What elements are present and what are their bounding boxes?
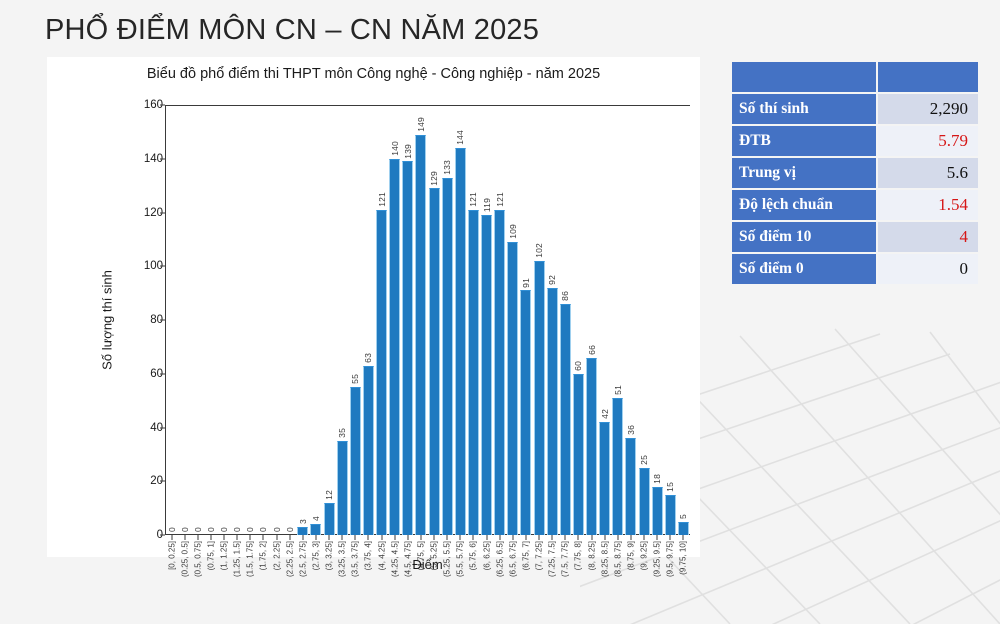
bar[interactable] [389, 159, 400, 535]
x-axis-tick-mark [302, 535, 303, 540]
bar-value-label: 0 [245, 527, 255, 532]
bar-slot[interactable]: 42(8.25, 8.5] [598, 105, 611, 535]
stat-label-cell: ĐTB [732, 126, 876, 156]
bar-slot[interactable]: 51(8.5, 8.75] [611, 105, 624, 535]
stat-label-cell: Số điểm 0 [732, 254, 876, 284]
x-axis-tick-mark [657, 535, 658, 540]
x-axis-tick-mark [197, 535, 198, 540]
table-row: Số điểm 104 [732, 222, 978, 252]
bar-slot[interactable]: 119(6, 6.25] [480, 105, 493, 535]
bar[interactable] [481, 215, 492, 535]
x-axis-tick-mark [368, 535, 369, 540]
bar-slot[interactable]: 0(0.5, 0.75] [191, 105, 204, 535]
y-axis-tick-label: 40 [103, 422, 163, 434]
bar-value-label: 35 [337, 428, 347, 438]
page-title: PHỔ ĐIỂM MÔN CN – CN NĂM 2025 [45, 14, 539, 47]
bar[interactable] [534, 261, 545, 535]
bar-value-label: 0 [272, 527, 282, 532]
bar[interactable] [612, 398, 623, 535]
stat-value-cell: 5.79 [878, 126, 978, 156]
bar[interactable] [337, 441, 348, 535]
stat-value-cell: 1.54 [878, 190, 978, 220]
x-axis-tick-mark [499, 535, 500, 540]
bar-value-label: 129 [429, 171, 439, 186]
bar-value-label: 0 [206, 527, 216, 532]
y-axis-tick-label: 160 [103, 99, 163, 111]
bar-value-label: 121 [468, 192, 478, 207]
bar[interactable] [652, 487, 663, 535]
bar-slot[interactable]: 3(2.5, 2.75] [296, 105, 309, 535]
x-axis-tick-mark [539, 535, 540, 540]
bar-value-label: 86 [560, 291, 570, 301]
bar[interactable] [494, 210, 505, 535]
bar-slot[interactable]: 0[0, 0.25] [165, 105, 178, 535]
x-axis-tick-mark [486, 535, 487, 540]
x-axis-tick-mark [237, 535, 238, 540]
x-axis-tick-mark [250, 535, 251, 540]
x-axis-tick-mark [381, 535, 382, 540]
x-axis-tick-mark [407, 535, 408, 540]
bar-slot[interactable]: 0(2.25, 2.5] [283, 105, 296, 535]
x-axis-tick-mark [591, 535, 592, 540]
x-axis-tick-mark [342, 535, 343, 540]
bar-value-label: 12 [324, 490, 334, 500]
bar[interactable] [507, 242, 518, 535]
bar[interactable] [324, 503, 335, 535]
bar[interactable] [678, 522, 689, 535]
x-axis-tick-mark [512, 535, 513, 540]
plot-area: 020406080100120140160 Số lượng thí sinh … [165, 105, 690, 535]
bar-slot[interactable]: 121(5.75, 6] [467, 105, 480, 535]
bar-slot[interactable]: 35(3.25, 3.5] [336, 105, 349, 535]
bar[interactable] [468, 210, 479, 535]
table-row: Số điểm 00 [732, 254, 978, 284]
x-axis-tick-mark [644, 535, 645, 540]
bar-slot[interactable]: 109(6.5, 6.75] [506, 105, 519, 535]
chart-title: Biểu đồ phổ điểm thi THPT môn Công nghệ … [47, 66, 700, 82]
bar-slot[interactable]: 139(4.5, 4.75] [401, 105, 414, 535]
x-axis-tick-mark [447, 535, 448, 540]
x-axis-tick-mark [171, 535, 172, 540]
x-axis-tick-mark [289, 535, 290, 540]
bar[interactable] [297, 527, 308, 535]
bar[interactable] [547, 288, 558, 535]
bar-slot[interactable]: 121(4, 4.25] [375, 105, 388, 535]
bar[interactable] [599, 422, 610, 535]
bar-slot[interactable]: 12(3, 3.25] [323, 105, 336, 535]
stat-value-cell: 2,290 [878, 94, 978, 124]
bar-slot[interactable]: 0(2, 2.25] [270, 105, 283, 535]
bar-value-label: 91 [521, 278, 531, 288]
bar-value-label: 0 [167, 527, 177, 532]
x-axis-label: Điểm [165, 557, 690, 572]
table-row: ĐTB5.79 [732, 126, 978, 156]
bar[interactable] [442, 178, 453, 535]
bar-slot[interactable]: 36(8.75, 9] [624, 105, 637, 535]
x-axis-tick-mark [604, 535, 605, 540]
bar[interactable] [639, 468, 650, 535]
x-axis-tick-mark [184, 535, 185, 540]
stat-label-cell: Trung vị [732, 158, 876, 188]
bar-value-label: 133 [442, 160, 452, 175]
bar-value-label: 60 [573, 361, 583, 371]
stat-value-cell: 4 [878, 222, 978, 252]
bar[interactable] [310, 524, 321, 535]
bar-value-label: 55 [350, 374, 360, 384]
bar-value-label: 0 [193, 527, 203, 532]
x-axis-tick-mark [460, 535, 461, 540]
bar[interactable] [350, 387, 361, 535]
x-axis-tick-mark [630, 535, 631, 540]
x-axis-tick-mark [683, 535, 684, 540]
x-axis-tick-mark [617, 535, 618, 540]
bar-slot[interactable]: 0(1.5, 1.75] [244, 105, 257, 535]
bar-slot[interactable]: 60(7.75, 8] [572, 105, 585, 535]
stat-value-cell: 5.6 [878, 158, 978, 188]
table-header-row [732, 62, 978, 92]
bar-slot[interactable]: 18(9.25, 9.5] [651, 105, 664, 535]
bar-value-label: 0 [219, 527, 229, 532]
x-axis-tick-mark [552, 535, 553, 540]
bar-slot[interactable]: 133(5.25, 5.5] [441, 105, 454, 535]
bar-slot[interactable]: 0(1.75, 2] [257, 105, 270, 535]
bar-value-label: 139 [403, 144, 413, 159]
bar[interactable] [520, 290, 531, 535]
bar[interactable] [363, 366, 374, 535]
bar-slot[interactable]: 129(5, 5.25] [428, 105, 441, 535]
bar-value-label: 119 [482, 198, 492, 212]
bar-value-label: 140 [390, 141, 400, 156]
bar-value-label: 18 [652, 474, 662, 484]
bar[interactable] [586, 358, 597, 535]
bar-value-label: 4 [311, 516, 321, 521]
bar-slot[interactable]: 15(9.5, 9.75] [664, 105, 677, 535]
bar-value-label: 15 [665, 482, 675, 492]
bar[interactable] [455, 148, 466, 535]
x-axis-tick-mark [565, 535, 566, 540]
bar-value-label: 63 [363, 353, 373, 363]
bar-slot[interactable]: 140(4.25, 4.5] [388, 105, 401, 535]
bar-value-label: 36 [626, 425, 636, 435]
bar-slot[interactable]: 25(9, 9.25] [638, 105, 651, 535]
x-axis-tick-mark [473, 535, 474, 540]
bar[interactable] [665, 495, 676, 535]
bar-value-label: 102 [534, 243, 544, 258]
x-axis-tick-mark [434, 535, 435, 540]
bar-value-label: 144 [455, 130, 465, 145]
bar[interactable] [376, 210, 387, 535]
x-axis-tick-mark [670, 535, 671, 540]
y-axis-tick-label: 140 [103, 153, 163, 165]
bar-value-label: 109 [508, 224, 518, 239]
bar-value-label: 121 [495, 192, 505, 207]
bar[interactable] [625, 438, 636, 535]
bar-slot[interactable]: 92(7.25, 7.5] [546, 105, 559, 535]
bar-slot[interactable]: 55(3.5, 3.75] [349, 105, 362, 535]
x-axis-tick-mark [329, 535, 330, 540]
bar-value-label: 0 [285, 527, 295, 532]
bar-value-label: 42 [600, 409, 610, 419]
bar-slot[interactable]: 63(3.75, 4] [362, 105, 375, 535]
stat-label-cell: Số thí sinh [732, 94, 876, 124]
x-axis-tick-mark [394, 535, 395, 540]
y-axis-label: Số lượng thí sinh [99, 270, 114, 370]
bar-slot[interactable]: 0(0.25, 0.5] [178, 105, 191, 535]
table-header-cell [878, 62, 978, 92]
bar-slot[interactable]: 86(7.5, 7.75] [559, 105, 572, 535]
bar-slot[interactable]: 91(6.75, 7] [519, 105, 532, 535]
bar-slot[interactable]: 0(1.25, 1.5] [231, 105, 244, 535]
bar-value-label: 3 [298, 519, 308, 524]
bar-slot[interactable]: 5(9.75, 10] [677, 105, 690, 535]
x-axis-tick-mark [525, 535, 526, 540]
x-axis-tick-mark [578, 535, 579, 540]
bar-slot[interactable]: 144(5.5, 5.75] [454, 105, 467, 535]
stat-label-cell: Số điểm 10 [732, 222, 876, 252]
bar-value-label: 25 [639, 455, 649, 465]
table-row: Độ lệch chuẩn1.54 [732, 190, 978, 220]
bar-slot[interactable]: 121(6.25, 6.5] [493, 105, 506, 535]
y-axis-tick-label: 120 [103, 207, 163, 219]
bar-slot[interactable]: 4(2.75, 3] [309, 105, 322, 535]
bar-slot[interactable]: 0(1, 1.25] [218, 105, 231, 535]
x-axis-tick-mark [276, 535, 277, 540]
bar-value-label: 51 [613, 385, 623, 395]
table-header-cell [732, 62, 876, 92]
bar-value-label: 0 [232, 527, 242, 532]
bar[interactable] [573, 374, 584, 535]
bar-value-label: 5 [678, 514, 688, 519]
bar-slot[interactable]: 149(4.75, 5] [414, 105, 427, 535]
table-row: Số thí sinh2,290 [732, 94, 978, 124]
x-axis-tick-mark [224, 535, 225, 540]
x-axis-tick-mark [355, 535, 356, 540]
bar-value-label: 149 [416, 117, 426, 132]
y-axis-tick-label: 20 [103, 475, 163, 487]
bar-value-label: 66 [587, 345, 597, 355]
x-axis-tick-mark [210, 535, 211, 540]
stat-label-cell: Độ lệch chuẩn [732, 190, 876, 220]
x-axis-tick-mark [263, 535, 264, 540]
table-row: Trung vị5.6 [732, 158, 978, 188]
chart-panel: Biểu đồ phổ điểm thi THPT môn Công nghệ … [47, 57, 700, 557]
stat-value-cell: 0 [878, 254, 978, 284]
bar[interactable] [560, 304, 571, 535]
bar-value-label: 0 [258, 527, 268, 532]
bar[interactable] [429, 188, 440, 535]
y-axis-tick-label: 0 [103, 529, 163, 541]
bar-slot[interactable]: 66(8, 8.25] [585, 105, 598, 535]
bar-slot[interactable]: 102(7, 7.25] [533, 105, 546, 535]
bar[interactable] [402, 161, 413, 535]
bar-value-label: 0 [180, 527, 190, 532]
bar-value-label: 121 [377, 192, 387, 207]
bar-value-label: 92 [547, 275, 557, 285]
bar-series: 0[0, 0.25]0(0.25, 0.5]0(0.5, 0.75]0(0.75… [165, 105, 690, 535]
x-axis-tick-mark [315, 535, 316, 540]
bar-slot[interactable]: 0(0.75, 1] [204, 105, 217, 535]
statistics-table: Số thí sinh2,290ĐTB5.79Trung vị5.6Độ lệc… [730, 60, 980, 286]
bar[interactable] [415, 135, 426, 535]
x-axis-tick-mark [420, 535, 421, 540]
